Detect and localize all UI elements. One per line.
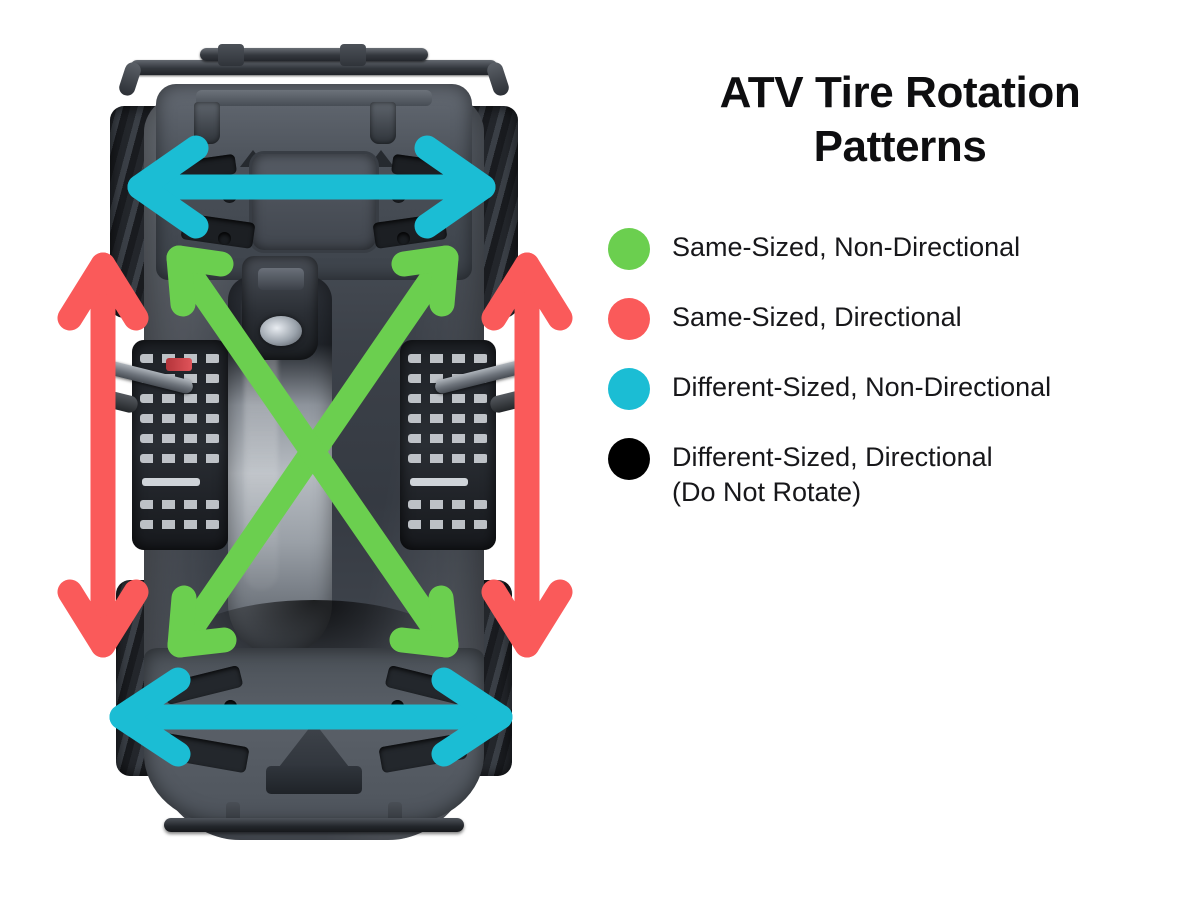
legend-label-2: Same-Sized, Directional — [672, 296, 962, 335]
rear-rack-center-plate — [252, 154, 376, 250]
legend-item-same-sized-directional: Same-Sized, Directional — [600, 296, 1200, 340]
headlight — [260, 316, 302, 346]
front-rack-slot-3 — [160, 733, 249, 774]
atv-top-view-photo — [108, 40, 520, 860]
legend-label-4-sub: (Do Not Rotate) — [672, 475, 993, 510]
front-bumper — [164, 818, 464, 832]
infographic-page: ATV Tire Rotation Patterns Same-Sized, N… — [0, 0, 1200, 900]
rear-rack-slot-2 — [391, 154, 455, 182]
rear-rack-latch-left — [194, 102, 220, 144]
page-title: ATV Tire Rotation Patterns — [620, 66, 1180, 173]
rear-cargo-rack — [156, 84, 472, 280]
legend: Same-Sized, Non-Directional Same-Sized, … — [600, 226, 1200, 536]
legend-item-different-sized-directional: Different-Sized, Directional (Do Not Rot… — [600, 436, 1200, 510]
rear-rack-lip — [196, 90, 432, 106]
front-rack-hole-right — [391, 700, 404, 713]
info-panel: ATV Tire Rotation Patterns Same-Sized, N… — [600, 0, 1200, 900]
front-rack-pad — [266, 766, 362, 794]
rear-rack-hole-left2 — [218, 232, 231, 245]
grab-bar-clip-right — [340, 44, 366, 66]
rear-rack-latch-right — [370, 102, 396, 144]
green-dot-icon — [608, 228, 650, 270]
legend-label-1: Same-Sized, Non-Directional — [672, 226, 1020, 265]
black-dot-icon — [608, 438, 650, 480]
front-rack-hole-left — [224, 700, 237, 713]
rear-rack-hole-left — [222, 188, 237, 203]
legend-item-different-sized-non-directional: Different-Sized, Non-Directional — [600, 366, 1200, 410]
rear-grab-bar-outer — [130, 60, 498, 75]
legend-label-4: Different-Sized, Directional (Do Not Rot… — [672, 436, 993, 510]
front-rack-slot-4 — [378, 733, 467, 774]
rear-rack-slot-1 — [173, 154, 237, 182]
legend-item-same-sized-non-directional: Same-Sized, Non-Directional — [600, 226, 1200, 270]
rear-rack-slot-4 — [373, 213, 448, 249]
legend-label-3: Different-Sized, Non-Directional — [672, 366, 1051, 405]
legend-label-4-main: Different-Sized, Directional — [672, 442, 993, 472]
rear-rack-hole-right2 — [397, 232, 410, 245]
page-title-line-1: ATV Tire Rotation — [620, 66, 1180, 120]
brake-lever-indicator — [166, 358, 192, 371]
rear-rack-hole-right — [391, 188, 406, 203]
red-dot-icon — [608, 298, 650, 340]
front-cargo-rack — [144, 648, 484, 824]
instrument-cluster — [258, 268, 304, 290]
grab-bar-clip-left — [218, 44, 244, 66]
page-title-line-2: Patterns — [620, 120, 1180, 174]
cyan-dot-icon — [608, 368, 650, 410]
atv-diagram-panel — [0, 0, 600, 900]
rear-rack-slot-3 — [181, 213, 256, 249]
